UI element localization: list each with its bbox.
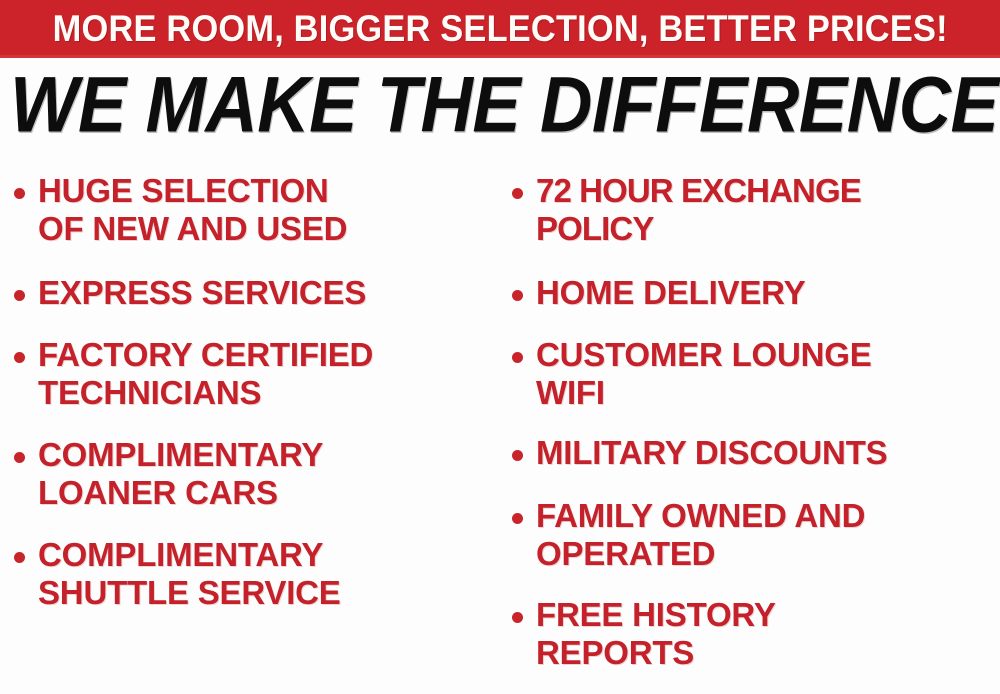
list-item: HUGE SELECTION OF NEW AND USED bbox=[14, 172, 347, 248]
banner-bottom-edge bbox=[0, 55, 1000, 58]
features-column-right: 72 HOUR EXCHANGE POLICY HOME DELIVERY CU… bbox=[512, 160, 1000, 694]
list-item: CUSTOMER LOUNGE WIFI bbox=[512, 336, 872, 412]
list-item-label: HUGE SELECTION OF NEW AND USED bbox=[38, 172, 347, 248]
page-title: WE MAKE THE DIFFERENCE bbox=[10, 66, 990, 144]
bullet-dot-icon bbox=[14, 552, 25, 563]
list-item-label: HOME DELIVERY bbox=[536, 274, 805, 312]
list-item-label: FACTORY CERTIFIED TECHNICIANS bbox=[38, 336, 373, 412]
list-item: 72 HOUR EXCHANGE POLICY bbox=[512, 172, 861, 248]
list-item-label: EXPRESS SERVICES bbox=[38, 274, 366, 312]
list-item: COMPLIMENTARY LOANER CARS bbox=[14, 436, 323, 512]
advertisement-banner: MORE ROOM, BIGGER SELECTION, BETTER PRIC… bbox=[0, 0, 1000, 694]
bullet-dot-icon bbox=[14, 352, 25, 363]
bullet-dot-icon bbox=[512, 290, 523, 301]
bullet-dot-icon bbox=[14, 452, 25, 463]
list-item-label: FREE HISTORY REPORTS bbox=[536, 596, 776, 672]
list-item-label: COMPLIMENTARY SHUTTLE SERVICE bbox=[38, 536, 341, 612]
list-item: MILITARY DISCOUNTS bbox=[512, 434, 887, 472]
top-promo-banner-text: MORE ROOM, BIGGER SELECTION, BETTER PRIC… bbox=[52, 10, 947, 48]
bullet-dot-icon bbox=[14, 290, 25, 301]
list-item: COMPLIMENTARY SHUTTLE SERVICE bbox=[14, 536, 341, 612]
list-item: FACTORY CERTIFIED TECHNICIANS bbox=[14, 336, 373, 412]
top-promo-banner: MORE ROOM, BIGGER SELECTION, BETTER PRIC… bbox=[0, 0, 1000, 58]
list-item-label: FAMILY OWNED AND OPERATED bbox=[536, 497, 865, 573]
list-item: EXPRESS SERVICES bbox=[14, 274, 366, 312]
list-item-label: 72 HOUR EXCHANGE POLICY bbox=[536, 172, 861, 248]
list-item: FAMILY OWNED AND OPERATED bbox=[512, 497, 865, 573]
features-columns: HUGE SELECTION OF NEW AND USED EXPRESS S… bbox=[0, 160, 1000, 694]
bullet-dot-icon bbox=[512, 612, 523, 623]
bullet-dot-icon bbox=[512, 352, 523, 363]
bullet-dot-icon bbox=[512, 450, 523, 461]
list-item-label: CUSTOMER LOUNGE WIFI bbox=[536, 336, 872, 412]
features-column-left: HUGE SELECTION OF NEW AND USED EXPRESS S… bbox=[14, 160, 504, 694]
list-item-label: COMPLIMENTARY LOANER CARS bbox=[38, 436, 323, 512]
list-item: HOME DELIVERY bbox=[512, 274, 805, 312]
list-item-label: MILITARY DISCOUNTS bbox=[536, 434, 887, 472]
list-item: FREE HISTORY REPORTS bbox=[512, 596, 776, 672]
bullet-dot-icon bbox=[14, 188, 25, 199]
bullet-dot-icon bbox=[512, 513, 523, 524]
bullet-dot-icon bbox=[512, 188, 523, 199]
